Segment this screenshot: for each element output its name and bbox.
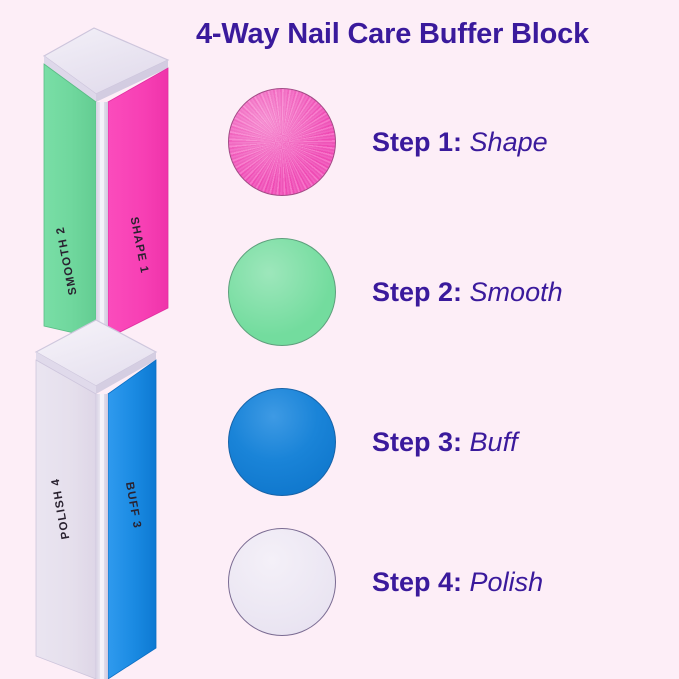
step-2-label: Step 2: Smooth — [372, 277, 563, 308]
upper-block-left-face-smooth — [44, 64, 96, 338]
step-row-1: Step 1: Shape — [228, 83, 678, 201]
polish-swatch — [228, 528, 336, 636]
buff-swatch — [228, 388, 336, 496]
step-3-key: Step 3: — [372, 427, 462, 457]
shape-swatch — [228, 88, 336, 196]
step-3-label: Step 3: Buff — [372, 427, 518, 458]
smooth-swatch — [228, 238, 336, 346]
lower-block-group: POLISH 4 BUFF 3 — [36, 320, 156, 679]
step-2-key: Step 2: — [372, 277, 462, 307]
page-title: 4-Way Nail Care Buffer Block — [196, 18, 656, 51]
step-2-name: Smooth — [470, 277, 563, 307]
upper-block-right-face-shape — [108, 68, 168, 338]
step-1-key: Step 1: — [372, 127, 462, 157]
step-row-4: Step 4: Polish — [228, 523, 678, 641]
step-4-label: Step 4: Polish — [372, 567, 543, 598]
step-row-2: Step 2: Smooth — [228, 233, 678, 351]
step-3-name: Buff — [470, 427, 518, 457]
buffer-block-illustration: SMOOTH 2 SHAPE 1 POLISH 4 BUFF 3 — [8, 8, 218, 679]
step-1-name: Shape — [470, 127, 548, 157]
step-1-label: Step 1: Shape — [372, 127, 548, 158]
step-row-3: Step 3: Buff — [228, 383, 678, 501]
product-infographic: SMOOTH 2 SHAPE 1 POLISH 4 BUFF 3 — [0, 0, 679, 679]
step-4-name: Polish — [470, 567, 544, 597]
lower-block-spine-highlight — [100, 394, 104, 679]
upper-block-group: SMOOTH 2 SHAPE 1 — [44, 28, 168, 338]
upper-block-spine-highlight — [100, 102, 104, 338]
step-4-key: Step 4: — [372, 567, 462, 597]
